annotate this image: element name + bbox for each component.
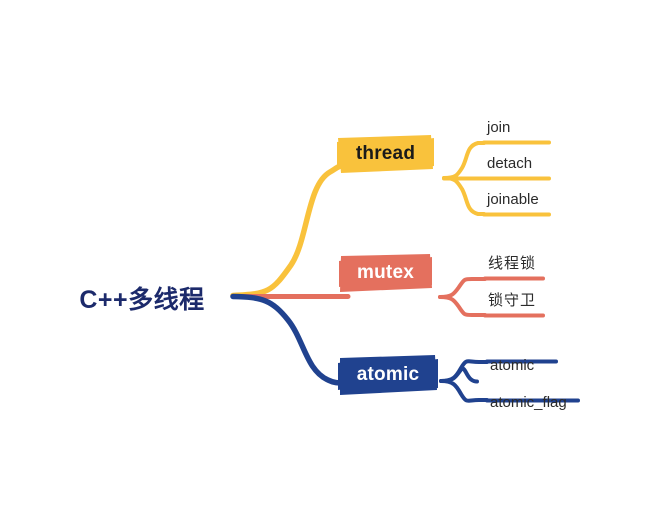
- leaf-node-thread-lock[interactable]: 线程锁: [488, 255, 536, 273]
- leaf-node-lock-guard[interactable]: 锁守卫: [488, 292, 536, 310]
- root-node-label: C++多线程: [79, 280, 204, 316]
- connector-mutex-suoshouwei: [440, 297, 485, 315]
- leaf-thread-lock-label: 线程锁: [488, 255, 536, 272]
- connector-thread-joinable: [444, 178, 484, 214]
- leaf-node-detach[interactable]: detach: [487, 155, 532, 173]
- leaf-lock-guard-label: 锁守卫: [488, 292, 536, 309]
- leaf-node-join[interactable]: join: [487, 119, 510, 137]
- connector-thread-join: [444, 143, 484, 178]
- mindmap-canvas: C++多线程 thread mutex atomic join detach: [0, 0, 649, 526]
- connector-mutex-xianchengsuo: [440, 279, 485, 297]
- leaf-atomic-flag-label: atomic_flag: [490, 394, 567, 411]
- atomic-connector-bottom: [441, 381, 487, 401]
- topic-node-thread[interactable]: thread: [337, 133, 434, 174]
- trunk-thread: [233, 165, 344, 296]
- topic-atomic-label: atomic: [357, 364, 419, 386]
- root-node[interactable]: C++多线程: [62, 281, 222, 315]
- leaf-detach-label: detach: [487, 155, 532, 172]
- leaf-node-atomic[interactable]: atomic: [490, 357, 534, 375]
- leaf-node-joinable[interactable]: joinable: [487, 191, 539, 209]
- topic-thread-label: thread: [356, 143, 415, 165]
- leaf-node-atomic-flag[interactable]: atomic_flag: [490, 394, 567, 412]
- trunk-atomic: [233, 297, 345, 384]
- leaf-atomic-label: atomic: [490, 357, 534, 374]
- branch-connectors-layer: [0, 0, 649, 526]
- topic-mutex-label: mutex: [357, 262, 414, 284]
- topic-node-atomic[interactable]: atomic: [338, 354, 438, 396]
- leaf-join-label: join: [487, 119, 510, 136]
- topic-node-mutex[interactable]: mutex: [339, 253, 432, 293]
- leaf-joinable-label: joinable: [487, 191, 539, 208]
